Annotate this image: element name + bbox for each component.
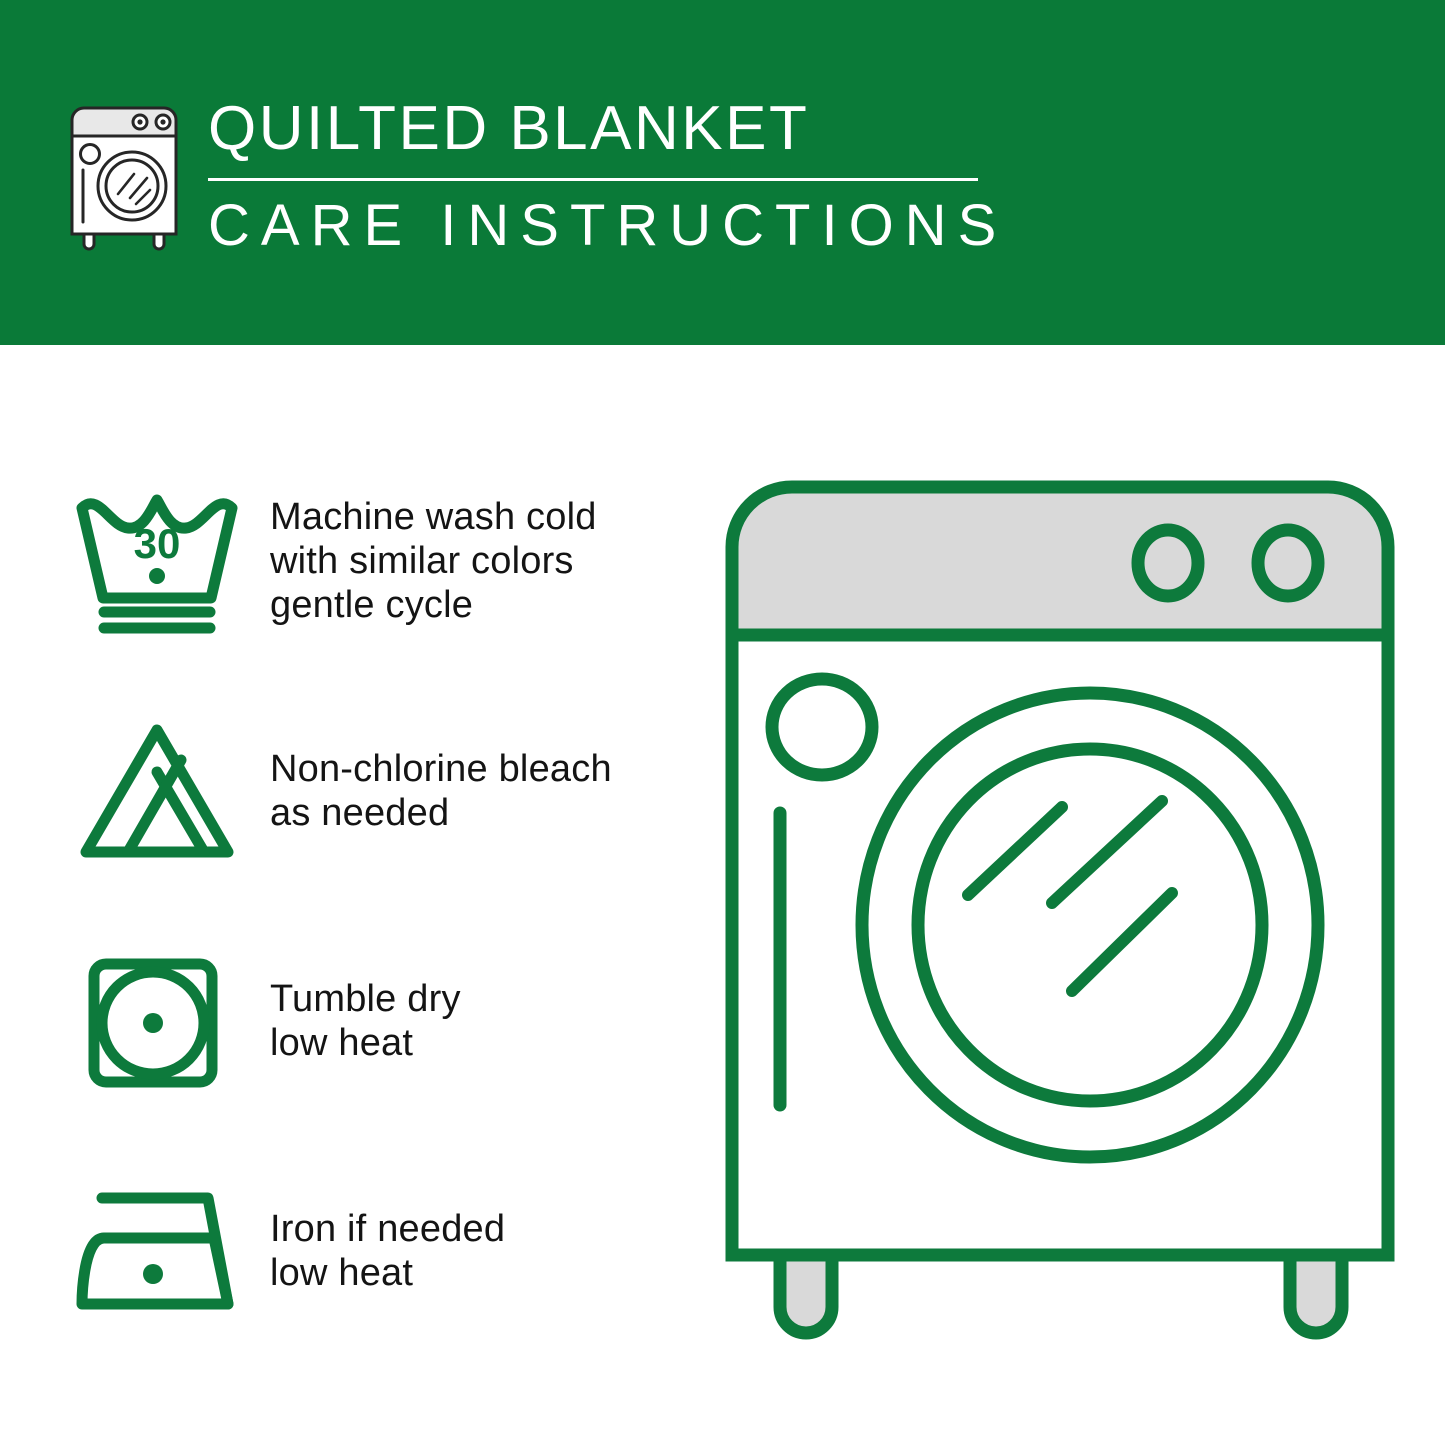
care-instruction-list: 30 Machine wash cold with similar colors… [62, 475, 682, 1337]
machine-leg-right [1290, 1255, 1342, 1333]
care-line: Tumble dry [270, 977, 461, 1021]
care-line: gentle cycle [270, 583, 597, 627]
washing-machine-logo-icon [62, 102, 190, 252]
care-line: low heat [270, 1021, 461, 1065]
iron-low-heat-icon [62, 1171, 252, 1331]
care-text-tumble-dry: Tumble dry low heat [270, 977, 461, 1065]
control-knob-1[interactable] [1138, 530, 1198, 596]
title-divider [208, 178, 978, 181]
care-text-machine-wash: Machine wash cold with similar colors ge… [270, 495, 597, 627]
detergent-dispenser-icon [772, 679, 872, 775]
care-line: low heat [270, 1251, 505, 1295]
care-line: Non-chlorine bleach [270, 747, 612, 791]
front-load-washing-machine-illustration [700, 465, 1420, 1365]
page-title: QUILTED BLANKET [204, 96, 1007, 162]
care-line: with similar colors [270, 539, 597, 583]
care-text-iron: Iron if needed low heat [270, 1207, 505, 1295]
care-line: as needed [270, 791, 612, 835]
triangle-non-chlorine-bleach-icon [62, 711, 252, 871]
care-row-tumble-dry: Tumble dry low heat [62, 935, 682, 1107]
care-row-machine-wash: 30 Machine wash cold with similar colors… [62, 475, 682, 647]
control-knob-2[interactable] [1258, 530, 1318, 596]
care-row-iron: Iron if needed low heat [62, 1165, 682, 1337]
content-area: 30 Machine wash cold with similar colors… [0, 345, 1445, 1445]
care-line: Machine wash cold [270, 495, 597, 539]
care-text-bleach: Non-chlorine bleach as needed [270, 747, 612, 835]
wash-tub-30-gentle-icon: 30 [62, 481, 252, 641]
care-line: Iron if needed [270, 1207, 505, 1251]
care-row-bleach: Non-chlorine bleach as needed [62, 705, 682, 877]
machine-leg-left [780, 1255, 832, 1333]
header-content: QUILTED BLANKET CARE INSTRUCTIONS [62, 96, 1007, 257]
tumble-dry-low-heat-icon [62, 941, 252, 1101]
door-glass [918, 749, 1262, 1101]
header-band: QUILTED BLANKET CARE INSTRUCTIONS [0, 0, 1445, 345]
wash-temperature-label: 30 [134, 520, 181, 567]
page-subtitle: CARE INSTRUCTIONS [204, 195, 1007, 257]
title-block: QUILTED BLANKET CARE INSTRUCTIONS [204, 96, 1007, 257]
